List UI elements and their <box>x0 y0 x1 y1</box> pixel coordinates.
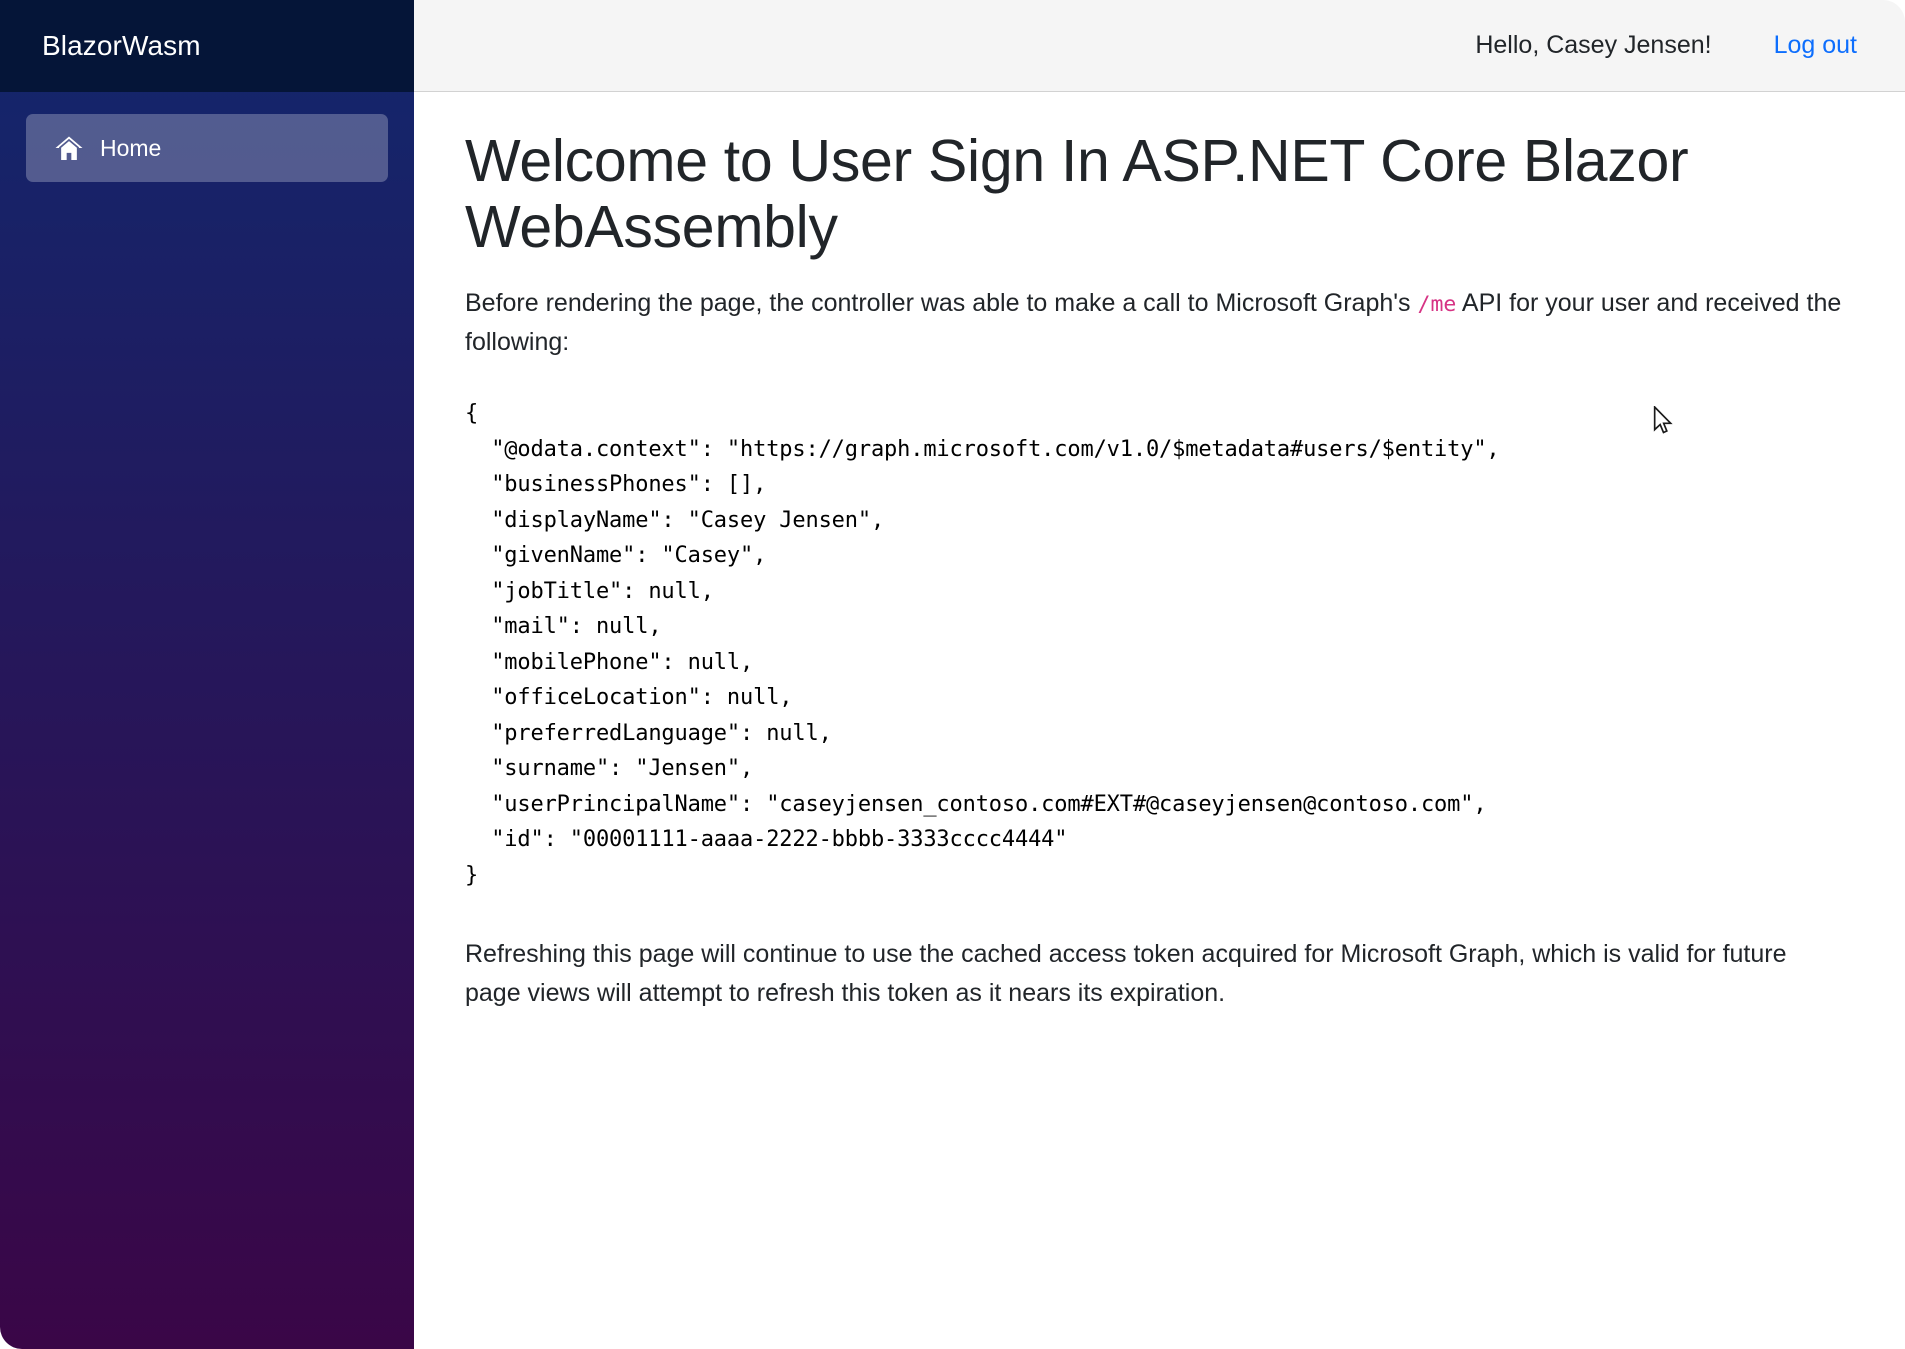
top-bar: Hello, Casey Jensen! Log out <box>414 0 1905 92</box>
sidebar-nav: Home <box>0 92 414 1349</box>
token-refresh-paragraph: Refreshing this page will continue to us… <box>465 935 1849 1013</box>
intro-paragraph: Before rendering the page, the controlle… <box>465 284 1849 362</box>
graph-response-code-block: { "@odata.context": "https://graph.micro… <box>465 396 1849 893</box>
page-title: Welcome to User Sign In ASP.NET Core Bla… <box>465 128 1849 260</box>
home-icon <box>52 133 86 163</box>
main-column: Hello, Casey Jensen! Log out Welcome to … <box>414 0 1905 1349</box>
app-root: BlazorWasm Home Hello, Casey Jensen! Log… <box>0 0 1905 1349</box>
sidebar: BlazorWasm Home <box>0 0 414 1349</box>
brand-title[interactable]: BlazorWasm <box>42 32 201 60</box>
intro-text-before: Before rendering the page, the controlle… <box>465 289 1418 317</box>
sidebar-header: BlazorWasm <box>0 0 414 92</box>
me-endpoint-code: /me <box>1418 292 1457 317</box>
user-greeting: Hello, Casey Jensen! <box>1475 33 1711 58</box>
sidebar-item-home[interactable]: Home <box>26 114 388 182</box>
logout-link[interactable]: Log out <box>1774 33 1857 58</box>
sidebar-item-label-home: Home <box>100 137 161 160</box>
content-area: Welcome to User Sign In ASP.NET Core Bla… <box>414 92 1905 1349</box>
